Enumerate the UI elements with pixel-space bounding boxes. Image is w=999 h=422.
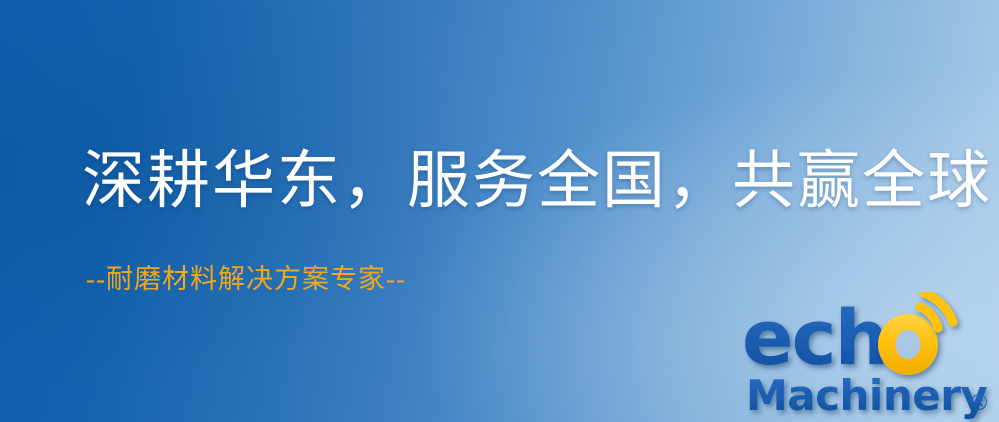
banner-subtitle: --耐磨材料解决方案专家-- — [86, 266, 406, 293]
logo-tagline: Machinery ® — [746, 371, 990, 420]
logo-wordmark-echo: ech — [742, 293, 887, 382]
logo-tagline-text: Machinery — [746, 371, 987, 420]
echo-machinery-logo: ech Machinery ® — [742, 292, 999, 422]
promo-banner: 深耕华东，服务全国，共赢全球 --耐磨材料解决方案专家-- — [0, 0, 999, 422]
banner-headline: 深耕华东，服务全国，共赢全球 — [82, 150, 992, 213]
logo-gold-o-icon — [878, 314, 938, 375]
logo-registered-mark: ® — [968, 391, 990, 416]
logo-wordmark-letters: ech — [742, 293, 887, 382]
